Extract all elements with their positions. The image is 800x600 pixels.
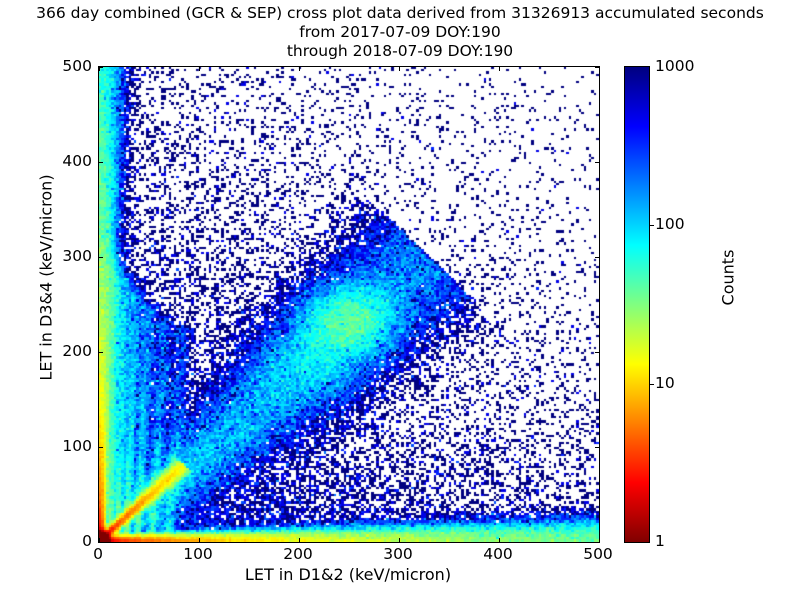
x-tick-label: 500 [583,545,613,563]
y-tick [99,352,103,353]
y-tick-label: 500 [62,57,92,75]
colorbar [624,66,650,543]
density-heatmap [99,67,599,542]
colorbar-tick-label: 1000 [655,57,694,75]
colorbar-tick [649,225,654,226]
y-tick [99,67,103,68]
y-tick-right [595,67,599,68]
x-tick-top [499,67,500,71]
y-axis-label: LET in D3&4 (keV/micron) [37,128,56,428]
y-tick-right [595,352,599,353]
x-tick-label: 100 [183,545,213,563]
y-tick-right [595,447,599,448]
x-tick [599,538,600,542]
x-tick-label: 300 [383,545,413,563]
x-tick [499,538,500,542]
x-tick-top [299,67,300,71]
colorbar-label: Counts [719,198,738,358]
y-tick-right [595,257,599,258]
figure-canvas: 366 day combined (GCR & SEP) cross plot … [0,0,800,600]
colorbar-tick-label: 100 [655,215,685,233]
x-tick-top [599,67,600,71]
x-tick-top [399,67,400,71]
x-tick-label: 400 [483,545,513,563]
y-tick-label: 300 [62,247,92,265]
x-tick [399,538,400,542]
colorbar-tick-label: 1 [655,532,665,550]
y-tick-label: 0 [82,532,92,550]
y-tick [99,162,103,163]
plot-title: 366 day combined (GCR & SEP) cross plot … [0,4,800,61]
y-tick [99,257,103,258]
y-tick-label: 100 [62,437,92,455]
plot-axes [98,66,600,543]
y-tick-label: 400 [62,152,92,170]
y-tick-right [595,542,599,543]
x-tick-top [199,67,200,71]
title-line-1: 366 day combined (GCR & SEP) cross plot … [0,4,800,23]
x-tick-label: 0 [93,545,103,563]
y-tick [99,447,103,448]
y-tick [99,542,103,543]
x-tick-label: 200 [283,545,313,563]
y-tick-label: 200 [62,342,92,360]
colorbar-tick-label: 10 [655,374,675,392]
x-tick [299,538,300,542]
colorbar-tick [649,384,654,385]
title-line-2: from 2017-07-09 DOY:190 [0,23,800,42]
x-axis-label: LET in D1&2 (keV/micron) [98,565,598,584]
y-tick-right [595,162,599,163]
x-tick [199,538,200,542]
colorbar-gradient [625,67,649,542]
